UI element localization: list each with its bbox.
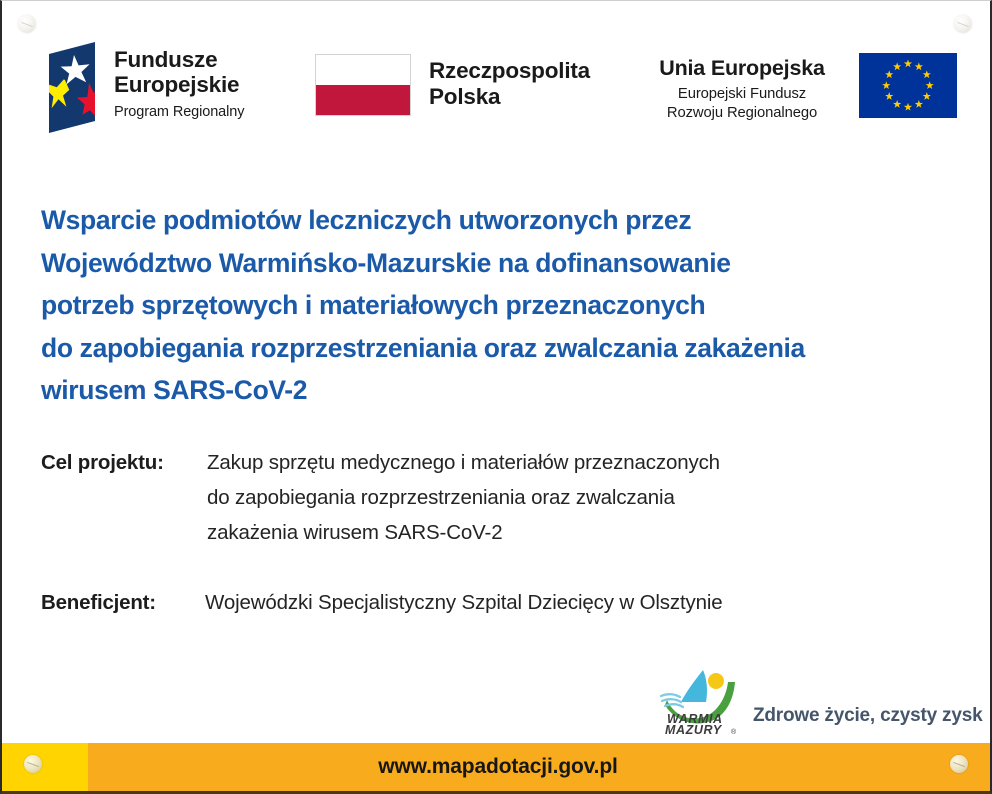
registered-mark: ® xyxy=(731,728,737,736)
cel-value-line-3: zakażenia wirusem SARS-CoV-2 xyxy=(207,515,720,550)
title-line-1: Wsparcie podmiotów leczniczych utworzony… xyxy=(41,199,956,242)
footer-bar: www.mapadotacji.gov.pl xyxy=(2,743,992,791)
info-block: Cel projektu: Zakup sprzętu medycznego i… xyxy=(41,445,961,620)
polish-flag-icon xyxy=(315,54,411,116)
eu-flag-icon xyxy=(859,53,957,118)
fundusze-europejskie-text: Fundusze Europejskie Program Regionalny xyxy=(114,42,244,121)
flag-stripe-red xyxy=(316,85,410,115)
footer-url[interactable]: www.mapadotacji.gov.pl xyxy=(378,755,617,779)
fe-line1: Fundusze xyxy=(114,47,244,72)
info-row-beneficjent: Beneficjent: Wojewódzki Specjalistyczny … xyxy=(41,585,961,620)
ue-sub2: Rozwoju Regionalnego xyxy=(642,104,842,123)
screw-top-left-icon xyxy=(18,15,36,33)
fe-line2: Europejskie xyxy=(114,72,244,97)
title-line-4: do zapobiegania rozprzestrzeniania oraz … xyxy=(41,327,956,370)
ue-sub1: Europejski Fundusz xyxy=(642,85,842,104)
footer-yellow-accent xyxy=(2,743,88,791)
cel-value-line-1: Zakup sprzętu medycznego i materiałów pr… xyxy=(207,445,720,480)
information-board: Fundusze Europejskie Program Regionalny … xyxy=(0,0,992,794)
unia-europejska-text: Unia Europejska Europejski Fundusz Rozwo… xyxy=(642,53,842,123)
cel-value-line-2: do zapobiegania rozprzestrzeniania oraz … xyxy=(207,480,720,515)
beneficjent-label: Beneficjent: xyxy=(41,585,205,620)
warmia-mazury-slogan: Zdrowe życie, czysty zysk xyxy=(753,706,982,736)
rp-line1: Rzeczpospolita xyxy=(429,58,590,84)
rp-line2: Polska xyxy=(429,84,590,110)
beneficjent-value: Wojewódzki Specjalistyczny Szpital Dziec… xyxy=(205,585,723,620)
flag-stripe-white xyxy=(316,55,410,85)
title-line-5: wirusem SARS-CoV-2 xyxy=(41,369,956,412)
board-title: Wsparcie podmiotów leczniczych utworzony… xyxy=(41,199,956,412)
fe-subtitle: Program Regionalny xyxy=(114,103,244,121)
logo-strip: Fundusze Europejskie Program Regionalny … xyxy=(2,1,992,153)
logo-fundusze-europejskie: Fundusze Europejskie Program Regionalny xyxy=(49,42,244,133)
info-row-cel-projektu: Cel projektu: Zakup sprzętu medycznego i… xyxy=(41,445,961,550)
cel-projektu-value: Zakup sprzętu medycznego i materiałów pr… xyxy=(207,445,720,550)
rzeczpospolita-text: Rzeczpospolita Polska xyxy=(429,54,590,110)
screw-bottom-left-icon xyxy=(24,755,42,773)
ue-line1: Unia Europejska xyxy=(642,56,842,81)
screw-top-right-icon xyxy=(954,15,972,33)
fundusze-europejskie-mark-icon xyxy=(49,42,101,133)
title-line-2: Województwo Warmińsko-Mazurskie na dofin… xyxy=(41,242,956,285)
logo-unia-europejska: Unia Europejska Europejski Fundusz Rozwo… xyxy=(642,53,957,123)
screw-bottom-right-icon xyxy=(950,755,968,773)
warmia-wordmark-line2: MAZURY xyxy=(665,723,723,736)
logo-rzeczpospolita-polska: Rzeczpospolita Polska xyxy=(315,54,590,116)
title-line-3: potrzeb sprzętowych i materiałowych prze… xyxy=(41,284,956,327)
warmia-mazury-block: WARMIA MAZURY ® Zdrowe życie, czysty zys… xyxy=(659,664,982,736)
cel-projektu-label: Cel projektu: xyxy=(41,445,207,480)
warmia-mazury-logo-icon: WARMIA MAZURY ® xyxy=(659,664,743,736)
